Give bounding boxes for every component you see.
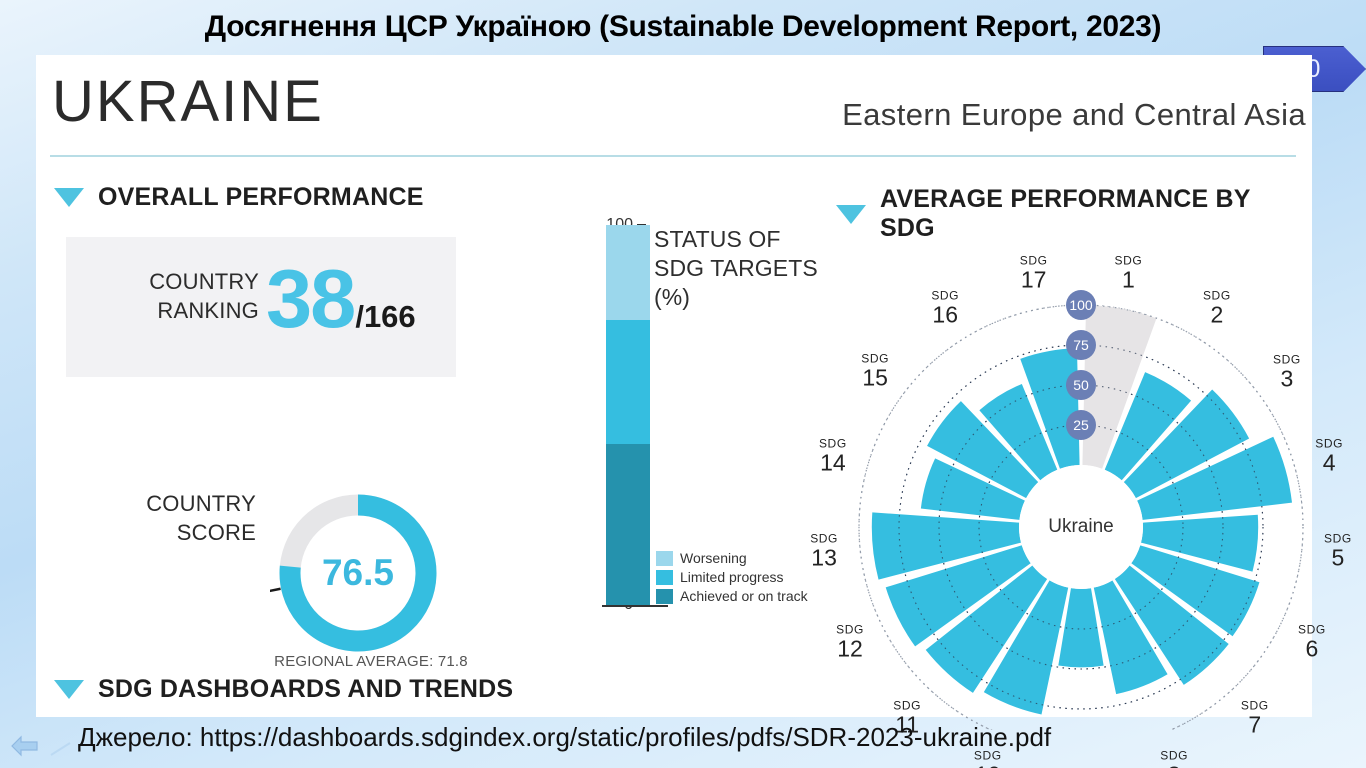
slide: Досягнення ЦСР Україною (Sustainable Dev… <box>0 0 1366 768</box>
triangle-down-icon <box>836 205 866 224</box>
status-of-sdg-targets-chart: STATUS OF SDG TARGETS (%) 10090807060504… <box>526 225 826 645</box>
radar-ring-label-25: 25 <box>1066 410 1096 440</box>
radar-category-label-sdg-4: SDG4 <box>1315 438 1343 475</box>
legend-label: Worsening <box>680 550 747 566</box>
legend-item: Achieved or on track <box>656 588 808 604</box>
pen-stroke-icon[interactable] <box>50 742 72 756</box>
source-footer: Джерело: https://dashboards.sdgindex.org… <box>78 722 1051 753</box>
back-arrow-icon[interactable] <box>10 734 40 758</box>
country-name: UKRAINE <box>52 73 324 131</box>
legend-swatch <box>656 570 673 585</box>
radar-category-label-sdg-16: SDG16 <box>931 289 959 326</box>
status-chart-title: STATUS OF SDG TARGETS (%) <box>654 225 826 311</box>
radar-ring-label-100: 100 <box>1066 290 1096 320</box>
status-chart-legend: WorseningLimited progressAchieved or on … <box>656 550 808 604</box>
radar-category-label-sdg-5: SDG5 <box>1324 532 1352 569</box>
status-chart-segment <box>606 444 650 606</box>
region-name: Eastern Europe and Central Asia <box>842 97 1306 133</box>
country-ranking-value: 38 /166 <box>266 247 416 351</box>
radar-category-label-sdg-17: SDG17 <box>1020 255 1048 292</box>
section-overall-label: OVERALL PERFORMANCE <box>98 183 424 212</box>
radar-category-label-sdg-14: SDG14 <box>819 438 847 475</box>
status-chart-segment <box>606 225 650 320</box>
radar-category-label-sdg-3: SDG3 <box>1273 353 1301 390</box>
country-rank-number: 38 <box>266 247 354 351</box>
section-overall-performance: OVERALL PERFORMANCE <box>54 183 424 212</box>
radar-category-label-sdg-1: SDG1 <box>1115 255 1143 292</box>
regional-average-label: REGIONAL AVERAGE: 71.8 <box>236 653 506 670</box>
legend-item: Limited progress <box>656 569 808 585</box>
radar-category-label-sdg-7: SDG7 <box>1241 699 1269 736</box>
country-rank-total: /166 <box>355 299 415 335</box>
status-chart-baseline <box>602 605 668 607</box>
radar-ring-label-50: 50 <box>1066 370 1096 400</box>
radar-category-label-sdg-15: SDG15 <box>861 353 889 390</box>
page-title: Досягнення ЦСР Україною (Sustainable Dev… <box>0 10 1366 44</box>
radar-category-label-sdg-13: SDG13 <box>810 532 838 569</box>
legend-swatch <box>656 589 673 604</box>
triangle-down-icon <box>54 188 84 207</box>
legend-label: Limited progress <box>680 569 784 585</box>
average-performance-radar-chart: Ukraine 255075100SDG1SDG2SDG3SDG4SDG5SDG… <box>806 230 1356 730</box>
radar-category-label-sdg-6: SDG6 <box>1298 624 1326 661</box>
radar-ring-label-75: 75 <box>1066 330 1096 360</box>
country-score-label: COUNTRY SCORE <box>76 489 256 547</box>
report-card: UKRAINE Eastern Europe and Central Asia … <box>36 55 1312 717</box>
radar-center-label: Ukraine <box>1048 516 1113 538</box>
triangle-down-icon <box>54 680 84 699</box>
legend-item: Worsening <box>656 550 808 566</box>
country-ranking-panel: COUNTRY RANKING 38 /166 <box>66 237 456 377</box>
legend-label: Achieved or on track <box>680 588 808 604</box>
status-chart-bar <box>606 225 650 605</box>
section-sdg-dashboards: SDG DASHBOARDS AND TRENDS <box>54 675 513 704</box>
country-score-value: 76.5 <box>270 485 446 661</box>
country-ranking-label: COUNTRY RANKING <box>84 267 259 325</box>
header-divider <box>50 155 1296 157</box>
radar-category-label-sdg-2: SDG2 <box>1203 289 1231 326</box>
section-dashboards-label: SDG DASHBOARDS AND TRENDS <box>98 675 513 704</box>
radar-category-label-sdg-8: SDG8 <box>1160 749 1188 768</box>
legend-swatch <box>656 551 673 566</box>
radar-category-label-sdg-12: SDG12 <box>836 623 864 660</box>
status-chart-segment <box>606 320 650 444</box>
